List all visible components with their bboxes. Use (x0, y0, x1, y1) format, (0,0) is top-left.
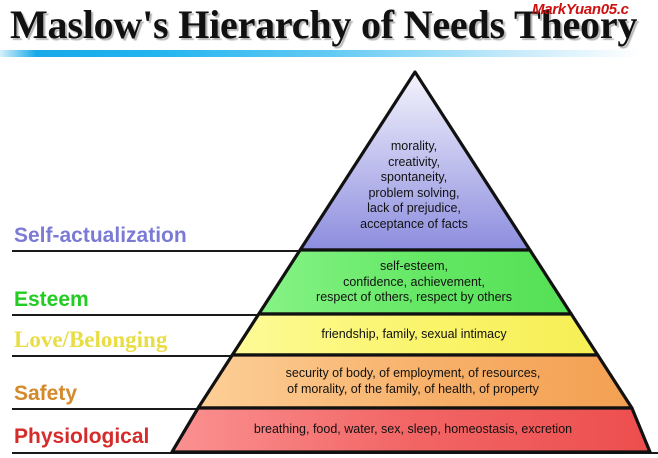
pyramid-shape (0, 0, 658, 458)
pyramid-tier-physiological (172, 408, 650, 452)
pyramid-tier-self-actualization (300, 72, 530, 250)
pyramid-tier-safety (198, 355, 632, 408)
pyramid-tier-love-belonging (232, 314, 597, 355)
maslow-pyramid-diagram: Maslow's Hierarchy of Needs Theory MarkY… (0, 0, 658, 458)
pyramid-tier-esteem (259, 250, 571, 314)
